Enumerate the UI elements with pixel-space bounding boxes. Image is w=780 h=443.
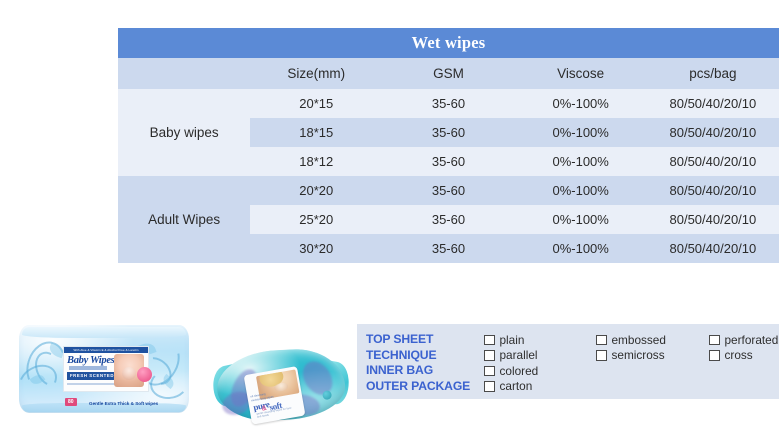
column-header-gsm: GSM: [382, 58, 514, 89]
pack-subtitle-bar: [69, 366, 107, 370]
cell-viscose: 0%-100%: [515, 118, 647, 147]
pack-top-claim: With Aloe & Vitamin E & Alcohol Free & L…: [64, 347, 148, 353]
checkbox-row-embossed[interactable]: embossed: [596, 332, 709, 348]
checkbox-row-perforated[interactable]: perforated: [709, 332, 778, 348]
wet-wipes-spec-table: Wet wipes Size(mm) GSM Viscose pcs/bag B…: [118, 28, 779, 263]
column-header-pcs-bag: pcs/bag: [647, 58, 779, 89]
checkbox-row-parallel[interactable]: parallel: [484, 348, 596, 364]
checkbox-label: semicross: [612, 348, 665, 362]
column-header-category: [118, 58, 250, 89]
checkbox-icon[interactable]: [596, 335, 607, 346]
checkbox-icon[interactable]: [484, 350, 495, 361]
pack-body: oil cleansing moisturizing wipes pure & …: [215, 347, 346, 424]
cell-viscose: 0%-100%: [515, 176, 647, 205]
group-label-adult-wipes: Adult Wipes: [118, 176, 250, 263]
checkbox-label: perforated: [725, 333, 779, 347]
checkbox-icon[interactable]: [484, 335, 495, 346]
cell-viscose: 0%-100%: [515, 205, 647, 234]
checkbox-row-plain[interactable]: plain: [484, 332, 596, 348]
column-header-size: Size(mm): [250, 58, 382, 89]
column-header-viscose: Viscose: [515, 58, 647, 89]
checkbox-label: colored: [500, 364, 539, 378]
cell-size: 20*15: [250, 89, 382, 118]
pack-top-fold: [22, 327, 186, 338]
pack-brand-name: Baby Wipes: [67, 355, 114, 366]
option-label-outer-package: OUTER PACKAGE: [366, 379, 484, 395]
option-column-3: perforated cross: [709, 332, 778, 394]
checkbox-icon[interactable]: [596, 350, 607, 361]
option-labels-column: TOP SHEET TECHNIQUE INNER BAG OUTER PACK…: [366, 332, 484, 394]
option-label-inner-bag: INNER BAG: [366, 363, 484, 379]
cell-gsm: 35-60: [382, 205, 514, 234]
cell-gsm: 35-60: [382, 147, 514, 176]
option-label-top-sheet: TOP SHEET: [366, 332, 484, 348]
cell-pcs-bag: 80/50/40/20/10: [647, 89, 779, 118]
checkbox-label: carton: [500, 379, 533, 393]
checkbox-icon[interactable]: [484, 381, 495, 392]
group-label-baby-wipes: Baby wipes: [118, 89, 250, 176]
cell-viscose: 0%-100%: [515, 234, 647, 263]
baby-wipes-pack-image: With Aloe & Vitamin E & Alcohol Free & L…: [19, 325, 189, 413]
cell-gsm: 35-60: [382, 89, 514, 118]
cell-viscose: 0%-100%: [515, 89, 647, 118]
pack-scent-banner: FRESH SCENTED: [67, 372, 117, 380]
cell-gsm: 35-60: [382, 118, 514, 147]
cell-pcs-bag: 80/50/40/20/10: [647, 176, 779, 205]
cell-gsm: 35-60: [382, 176, 514, 205]
checkbox-icon[interactable]: [709, 335, 720, 346]
table-title: Wet wipes: [118, 28, 779, 58]
cell-size: 20*20: [250, 176, 382, 205]
cell-pcs-bag: 80/50/40/20/10: [647, 234, 779, 263]
pack-front-label: With Aloe & Vitamin E & Alcohol Free & L…: [63, 346, 149, 392]
table-title-row: Wet wipes: [118, 28, 779, 58]
packaging-options-box: TOP SHEET TECHNIQUE INNER BAG OUTER PACK…: [357, 324, 779, 399]
checkbox-row-semicross[interactable]: semicross: [596, 348, 709, 364]
pack-front-label: oil cleansing moisturizing wipes pure & …: [244, 366, 306, 425]
table-header-row: Size(mm) GSM Viscose pcs/bag: [118, 58, 779, 89]
table-row: Baby wipes 20*15 35-60 0%-100% 80/50/40/…: [118, 89, 779, 118]
checkbox-icon[interactable]: [709, 350, 720, 361]
checkbox-label: plain: [500, 333, 525, 347]
pack-seal-icon: [322, 390, 331, 399]
checkbox-row-colored[interactable]: colored: [484, 363, 596, 379]
checkbox-row-carton[interactable]: carton: [484, 379, 596, 395]
cell-viscose: 0%-100%: [515, 147, 647, 176]
table-row: Adult Wipes 20*20 35-60 0%-100% 80/50/40…: [118, 176, 779, 205]
option-label-technique: TECHNIQUE: [366, 348, 484, 364]
checkbox-label: embossed: [612, 333, 666, 347]
option-column-1: plain parallel colored carton: [484, 332, 596, 394]
pack-count-badge: 80: [65, 398, 77, 406]
pure-soft-pack-image: oil cleansing moisturizing wipes pure & …: [213, 340, 349, 430]
pack-tagline: Gentle Extra Thick & Soft wipes: [89, 401, 158, 406]
cell-size: 30*20: [250, 234, 382, 263]
cell-pcs-bag: 80/50/40/20/10: [647, 205, 779, 234]
checkbox-label: parallel: [500, 348, 538, 362]
cell-pcs-bag: 80/50/40/20/10: [647, 118, 779, 147]
checkbox-label: cross: [725, 348, 753, 362]
pink-badge-icon: [137, 367, 152, 382]
checkbox-row-cross[interactable]: cross: [709, 348, 778, 364]
cell-size: 25*20: [250, 205, 382, 234]
cell-size: 18*12: [250, 147, 382, 176]
cell-size: 18*15: [250, 118, 382, 147]
checkbox-icon[interactable]: [484, 366, 495, 377]
cell-pcs-bag: 80/50/40/20/10: [647, 147, 779, 176]
cell-gsm: 35-60: [382, 234, 514, 263]
option-column-2: embossed semicross: [596, 332, 709, 394]
